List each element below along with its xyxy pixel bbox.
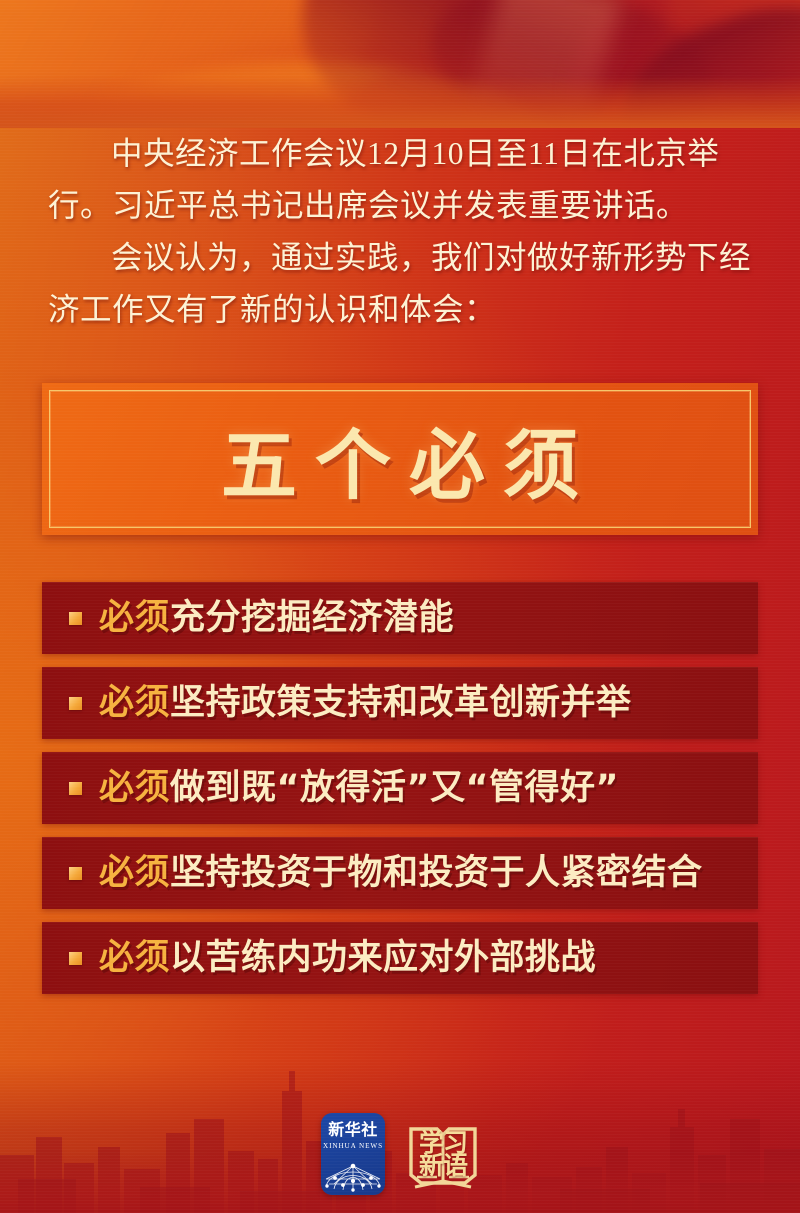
- square-bullet-icon: [69, 867, 82, 880]
- list-item-text: 必须以苦练内功来应对外部挑战: [99, 941, 596, 976]
- square-bullet-icon: [69, 782, 82, 795]
- list-item-highlight: 必须: [99, 598, 170, 638]
- list-item: 必须做到既“放得活”又“管得好”: [42, 752, 758, 824]
- xinhua-logo-cn-text: 新华社: [328, 1122, 378, 1138]
- list-item: 必须坚持政策支持和改革创新并举: [42, 667, 758, 739]
- xinhua-network-dome-icon: [321, 1153, 385, 1193]
- xinhua-news-logo: 新华社 XINHUA NEWS: [321, 1113, 385, 1195]
- headline-plaque: 五个必须: [42, 383, 758, 535]
- headline-title: 五个必须: [42, 383, 758, 535]
- xinhua-logo-en-text: XINHUA NEWS: [323, 1143, 383, 1150]
- list-item-highlight: 必须: [99, 768, 170, 808]
- list-item: 必须充分挖掘经济潜能: [42, 582, 758, 654]
- footer-logos: 新华社 XINHUA NEWS: [0, 1113, 800, 1195]
- flag-bottom-fade: [0, 76, 800, 128]
- list-item-highlight: 必须: [99, 683, 170, 723]
- intro-paragraph-1: 中央经济工作会议12月10日至11日在北京举行。习近平总书记出席会议并发表重要讲…: [48, 128, 752, 232]
- list-item: 必须坚持投资于物和投资于人紧密结合: [42, 837, 758, 909]
- xuexi-logo-text: 学习新语: [407, 1113, 479, 1195]
- list-item-highlight: 必须: [99, 853, 170, 893]
- list-item-highlight: 必须: [99, 938, 170, 978]
- xuexi-xinyu-logo: 学习新语: [407, 1113, 479, 1195]
- list-item-rest: 做到既“放得活”又“管得好”: [170, 768, 619, 808]
- list-item-text: 必须充分挖掘经济潜能: [99, 601, 454, 636]
- list-item-text: 必须坚持政策支持和改革创新并举: [99, 686, 632, 721]
- list-item-rest: 以苦练内功来应对外部挑战: [170, 938, 596, 978]
- poster-root: 中央经济工作会议12月10日至11日在北京举行。习近平总书记出席会议并发表重要讲…: [0, 0, 800, 1213]
- intro-paragraph-2: 会议认为，通过实践，我们对做好新形势下经济工作又有了新的认识和体会：: [48, 232, 752, 336]
- square-bullet-icon: [69, 612, 82, 625]
- list-item-rest: 坚持投资于物和投资于人紧密结合: [170, 853, 703, 893]
- list-item-text: 必须坚持投资于物和投资于人紧密结合: [99, 856, 703, 891]
- list-item: 必须以苦练内功来应对外部挑战: [42, 922, 758, 994]
- intro-text-block: 中央经济工作会议12月10日至11日在北京举行。习近平总书记出席会议并发表重要讲…: [48, 128, 752, 336]
- red-flag-banner-image: [0, 0, 800, 128]
- list-item-rest: 充分挖掘经济潜能: [170, 598, 454, 638]
- list-item-text: 必须做到既“放得活”又“管得好”: [99, 771, 619, 806]
- square-bullet-icon: [69, 697, 82, 710]
- xuexi-logo-line2: 新语: [419, 1151, 467, 1180]
- list-item-rest: 坚持政策支持和改革创新并举: [170, 683, 632, 723]
- requirements-list: 必须充分挖掘经济潜能 必须坚持政策支持和改革创新并举 必须做到既“放得活”又“管…: [42, 582, 758, 994]
- square-bullet-icon: [69, 952, 82, 965]
